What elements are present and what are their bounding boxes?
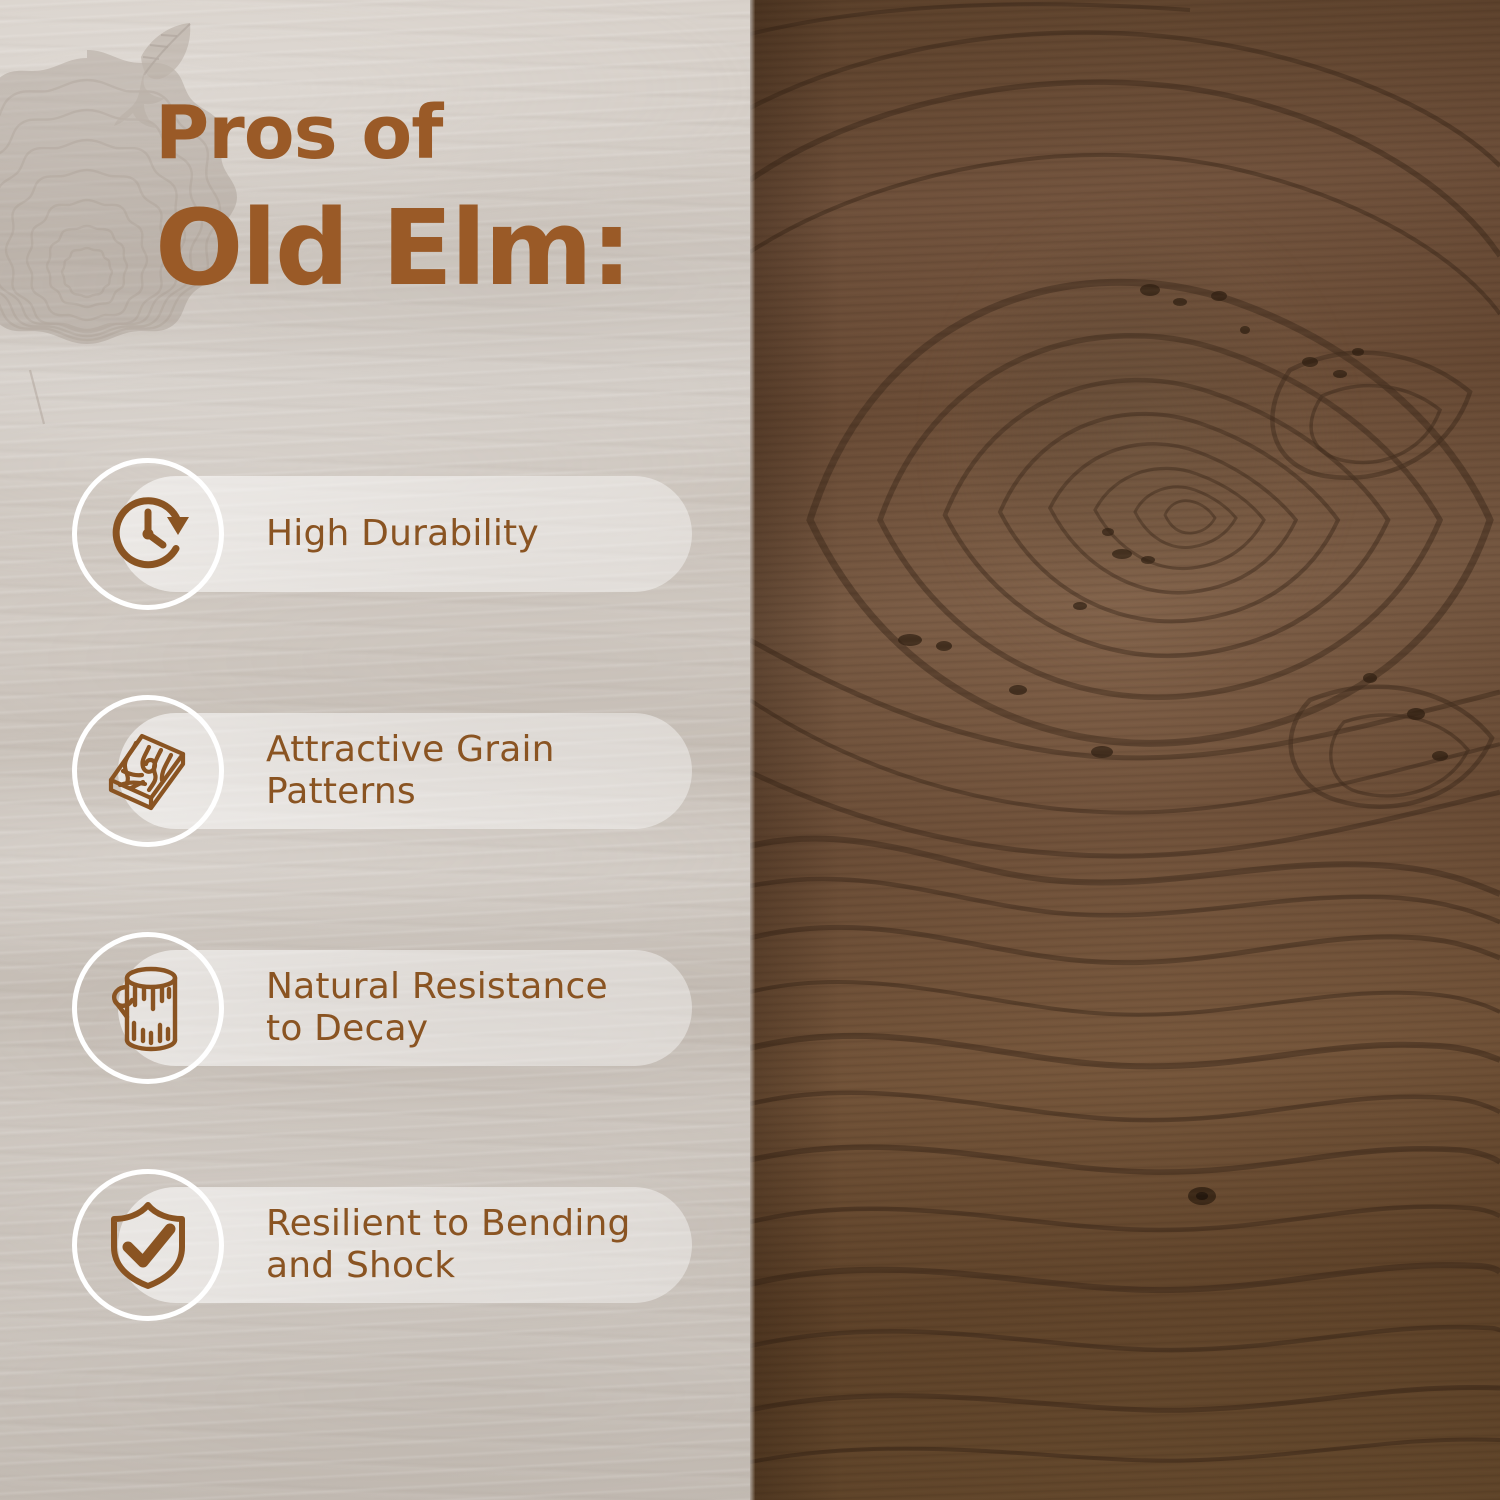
list-item: Natural Resistance to Decay	[0, 932, 750, 1084]
list-item: Resilient to Bending and Shock	[0, 1169, 750, 1321]
feature-label: Resilient to Bending and Shock	[266, 1203, 631, 1288]
wood-vignette	[750, 0, 1500, 1500]
feature-label: Attractive Grain Patterns	[266, 729, 555, 814]
tree-log-icon	[103, 961, 193, 1055]
shield-check-icon	[104, 1199, 192, 1291]
page-title: Pros of Old Elm:	[155, 96, 750, 304]
feature-icon-badge	[72, 932, 224, 1084]
left-content-panel: Pros of Old Elm: High Durability	[0, 0, 750, 1500]
feature-icon-badge	[72, 458, 224, 610]
list-item: High Durability	[0, 458, 750, 610]
feature-label: High Durability	[266, 513, 539, 555]
feature-list: High Durability Attractive Grain Pattern…	[0, 458, 750, 1321]
clock-history-icon	[105, 491, 191, 577]
feature-icon-badge	[72, 695, 224, 847]
feature-icon-badge	[72, 1169, 224, 1321]
panel-divider	[750, 0, 755, 1500]
list-item: Attractive Grain Patterns	[0, 695, 750, 847]
pros-of-old-elm-poster: Pros of Old Elm: High Durability	[0, 0, 1500, 1500]
elm-wood-photo	[750, 0, 1500, 1500]
title-line-one: Pros of	[155, 96, 750, 170]
wood-plank-grain-icon	[103, 726, 193, 816]
feature-label: Natural Resistance to Decay	[266, 966, 608, 1051]
title-line-two: Old Elm:	[155, 192, 750, 304]
